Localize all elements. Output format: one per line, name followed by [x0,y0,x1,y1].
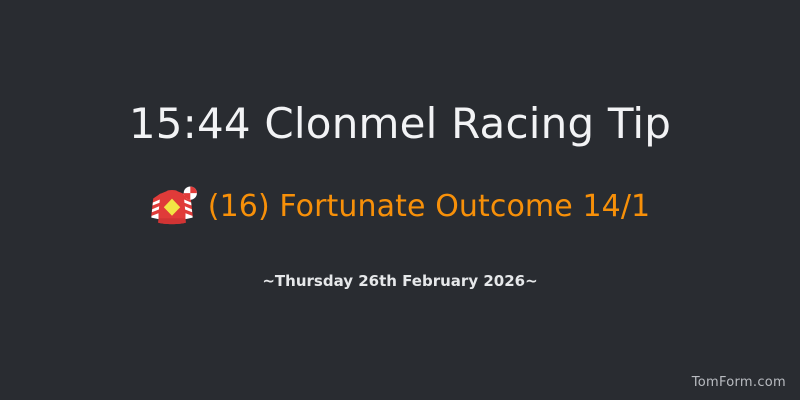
racing-tip-card: 15:44 Clonmel Racing Tip [0,0,800,400]
page-title: 15:44 Clonmel Racing Tip [0,98,800,150]
jockey-silk-icon [150,184,198,230]
site-watermark: TomForm.com [692,374,786,392]
tip-selection-row: (16) Fortunate Outcome 14/1 [0,184,800,230]
tip-selection-text: (16) Fortunate Outcome 14/1 [208,187,650,227]
race-date: ~Thursday 26th February 2026~ [0,270,800,292]
